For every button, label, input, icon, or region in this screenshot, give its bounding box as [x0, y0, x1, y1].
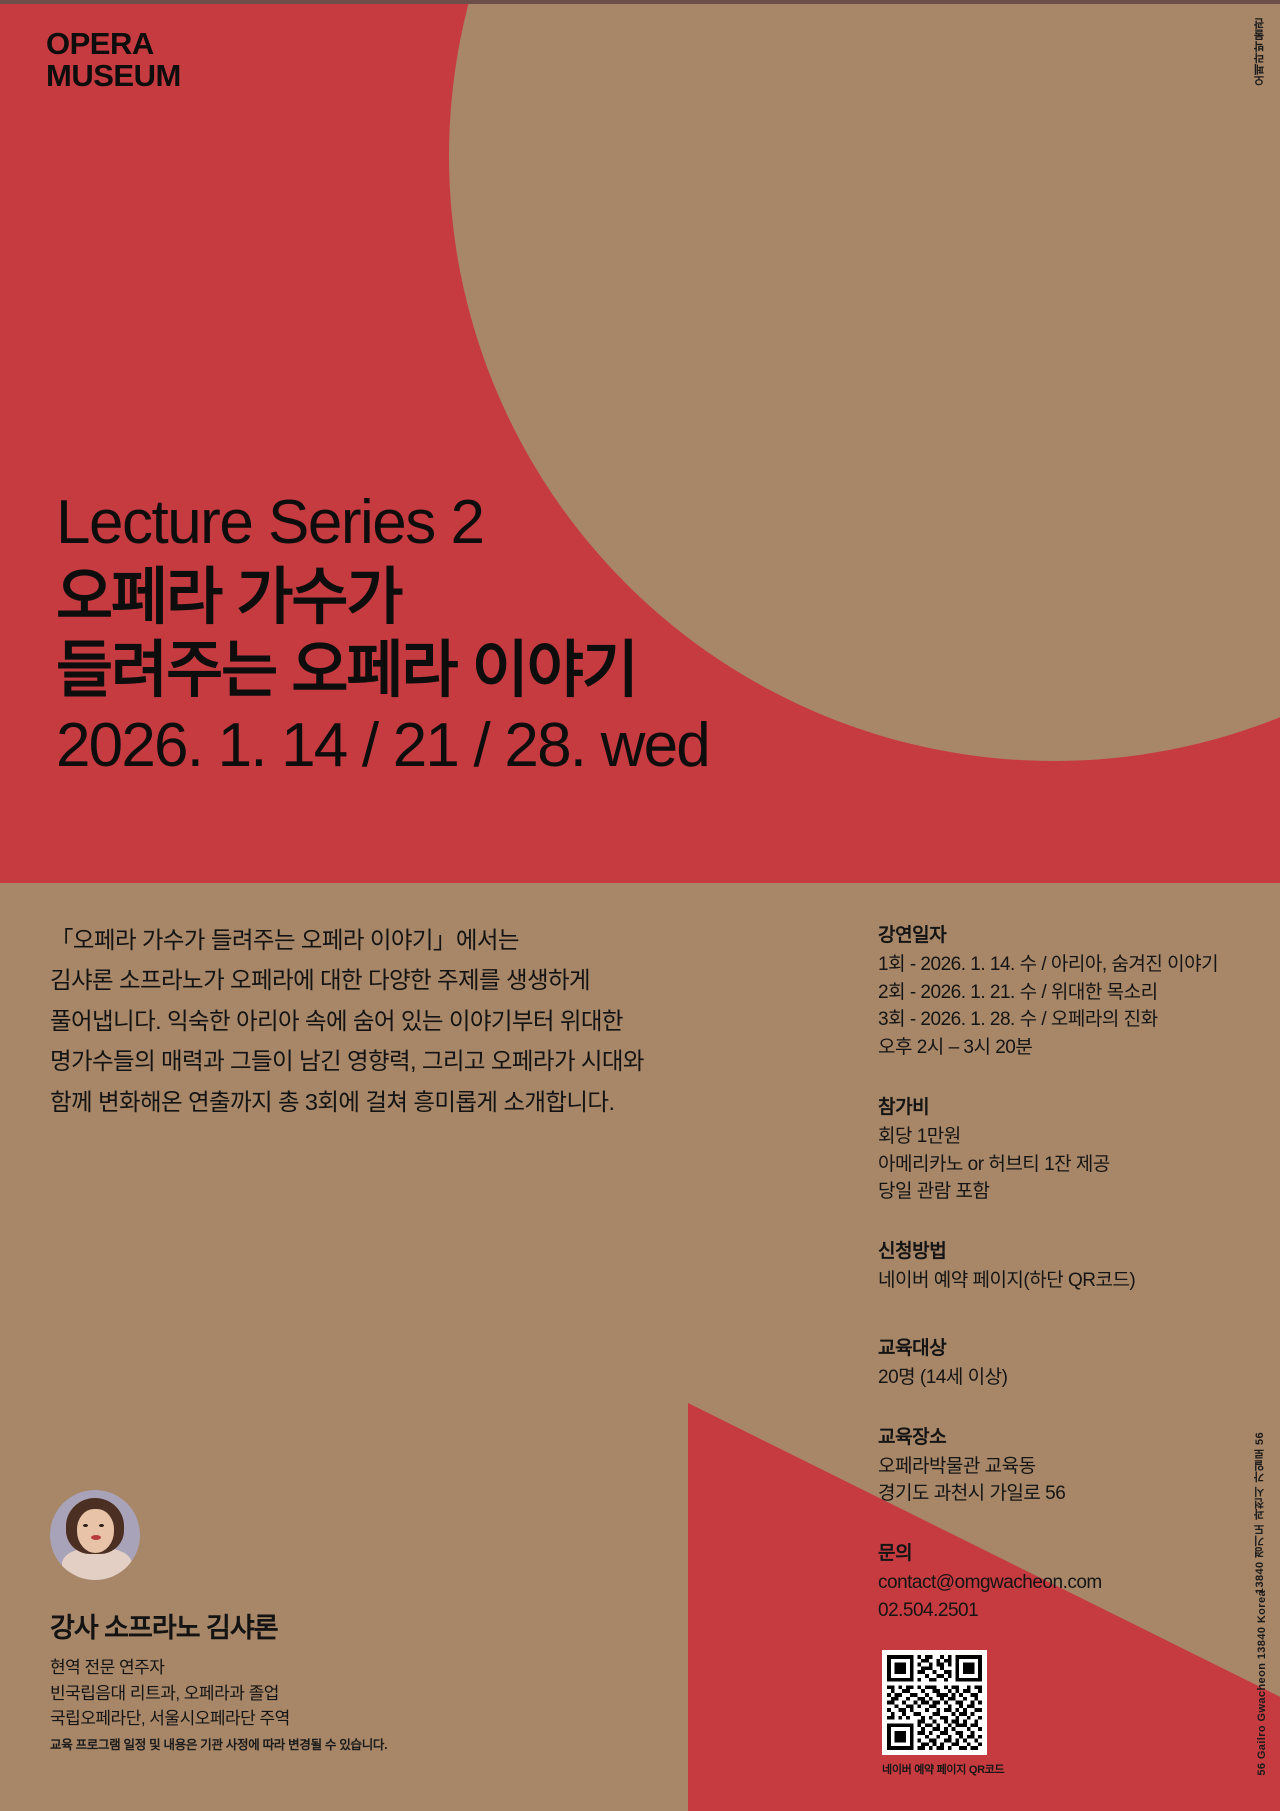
- intro-line: 「오페라 가수가 들려주는 오페라 이야기」에서는: [50, 920, 790, 960]
- logo-line-2: MUSEUM: [46, 60, 181, 92]
- schedule-line: 1회 - 2026. 1. 14. 수 / 아리아, 숨겨진 이야기: [878, 951, 1238, 979]
- venue-heading: 교육장소: [878, 1422, 1238, 1449]
- instructor-avatar: [50, 1490, 140, 1580]
- qr-code-icon: [887, 1655, 982, 1750]
- fee-heading: 참가비: [878, 1092, 1238, 1119]
- intro-line: 함께 변화해온 연출까지 총 3회에 걸쳐 흥미롭게 소개합니다.: [50, 1082, 790, 1122]
- audience-heading: 교육대상: [878, 1333, 1238, 1360]
- venue-line: 경기도 과천시 가일로 56: [878, 1480, 1238, 1508]
- fee-line: 아메리카노 or 허브티 1잔 제공: [878, 1151, 1238, 1179]
- series-label: Lecture Series 2: [56, 490, 709, 555]
- apply-heading: 신청방법: [878, 1236, 1238, 1263]
- apply-line: 네이버 예약 페이지(하단 QR코드): [878, 1267, 1238, 1295]
- intro-line: 김샤론 소프라노가 오페라에 대한 다양한 주제를 생생하게: [50, 960, 790, 1000]
- avatar-face: [77, 1509, 114, 1553]
- schedule-line: 3회 - 2026. 1. 28. 수 / 오페라의 진화: [878, 1006, 1238, 1034]
- contact-phone[interactable]: 02.504.2501: [878, 1597, 1238, 1625]
- qr-code-caption: 네이버 예약 페이지 QR코드: [882, 1761, 1004, 1777]
- info-block-apply: 신청방법 네이버 예약 페이지(하단 QR코드): [878, 1236, 1238, 1295]
- schedule-line: 2회 - 2026. 1. 21. 수 / 위대한 목소리: [878, 979, 1238, 1007]
- disclaimer-text: 교육 프로그램 일정 및 내용은 기관 사정에 따라 변경될 수 있습니다.: [50, 1734, 387, 1753]
- schedule-line: 오후 2시 – 3시 20분: [878, 1034, 1238, 1062]
- info-block-fee: 참가비 회당 1만원 아메리카노 or 허브티 1잔 제공 당일 관람 포함: [878, 1092, 1238, 1206]
- avatar-eye-left: [83, 1524, 88, 1527]
- qr-code-group[interactable]: 네이버 예약 페이지 QR코드: [882, 1650, 1004, 1777]
- contact-email[interactable]: contact@omgwacheon.com: [878, 1569, 1238, 1597]
- audience-line: 20명 (14세 이상): [878, 1364, 1238, 1392]
- avatar-lips: [91, 1535, 101, 1540]
- info-block-audience: 교육대상 20명 (14세 이상): [878, 1333, 1238, 1392]
- intro-line: 풀어냅니다. 익숙한 아리아 속에 숨어 있는 이야기부터 위대한: [50, 1001, 790, 1041]
- title-line-1: 오페라 가수가: [56, 561, 709, 634]
- contact-heading: 문의: [878, 1538, 1238, 1565]
- intro-paragraph: 「오페라 가수가 들려주는 오페라 이야기」에서는 김샤론 소프라노가 오페라에…: [50, 920, 790, 1122]
- title-line-2: 들려주는 오페라 이야기: [56, 634, 709, 707]
- info-block-contact: 문의 contact@omgwacheon.com 02.504.2501: [878, 1538, 1238, 1624]
- instructor-name: 강사 소프라노 김샤론: [50, 1606, 290, 1645]
- instructor-credential: 국립오페라단, 서울시오페라단 주역: [50, 1706, 290, 1732]
- qr-code-image[interactable]: [882, 1650, 987, 1755]
- instructor-credential: 현역 전문 연주자: [50, 1655, 290, 1681]
- info-block-schedule: 강연일자 1회 - 2026. 1. 14. 수 / 아리아, 숨겨진 이야기 …: [878, 920, 1238, 1062]
- venue-line: 오페라박물관 교육동: [878, 1453, 1238, 1481]
- vertical-address-kr: 13840 경기도 과천시 가일로 56: [1252, 1432, 1268, 1594]
- logo-line-1: OPERA: [46, 28, 181, 60]
- vertical-address-en: 56 Gailro Gwacheon 13840 Korea: [1256, 1590, 1268, 1776]
- vertical-museum-name: 오페라박물관: [1252, 18, 1268, 86]
- intro-line: 명가수들의 매력과 그들이 남긴 영향력, 그리고 오페라가 시대와: [50, 1041, 790, 1081]
- fee-line: 회당 1만원: [878, 1123, 1238, 1151]
- info-block-venue: 교육장소 오페라박물관 교육동 경기도 과천시 가일로 56: [878, 1422, 1238, 1508]
- schedule-heading: 강연일자: [878, 920, 1238, 947]
- headline-dates: 2026. 1. 14 / 21 / 28. wed: [56, 709, 709, 783]
- info-column: 강연일자 1회 - 2026. 1. 14. 수 / 아리아, 숨겨진 이야기 …: [878, 920, 1238, 1625]
- top-hairline: [0, 0, 1280, 4]
- instructor-block: 강사 소프라노 김샤론 현역 전문 연주자 빈국립음대 리트과, 오페라과 졸업…: [50, 1490, 290, 1732]
- avatar-eye-right: [99, 1524, 104, 1527]
- instructor-credential: 빈국립음대 리트과, 오페라과 졸업: [50, 1681, 290, 1707]
- fee-line: 당일 관람 포함: [878, 1178, 1238, 1206]
- poster-canvas: OPERA MUSEUM 오페라박물관 13840 경기도 과천시 가일로 56…: [0, 0, 1280, 1811]
- opera-museum-logo: OPERA MUSEUM: [46, 28, 181, 91]
- headline-group: Lecture Series 2 오페라 가수가 들려주는 오페라 이야기 20…: [56, 490, 709, 784]
